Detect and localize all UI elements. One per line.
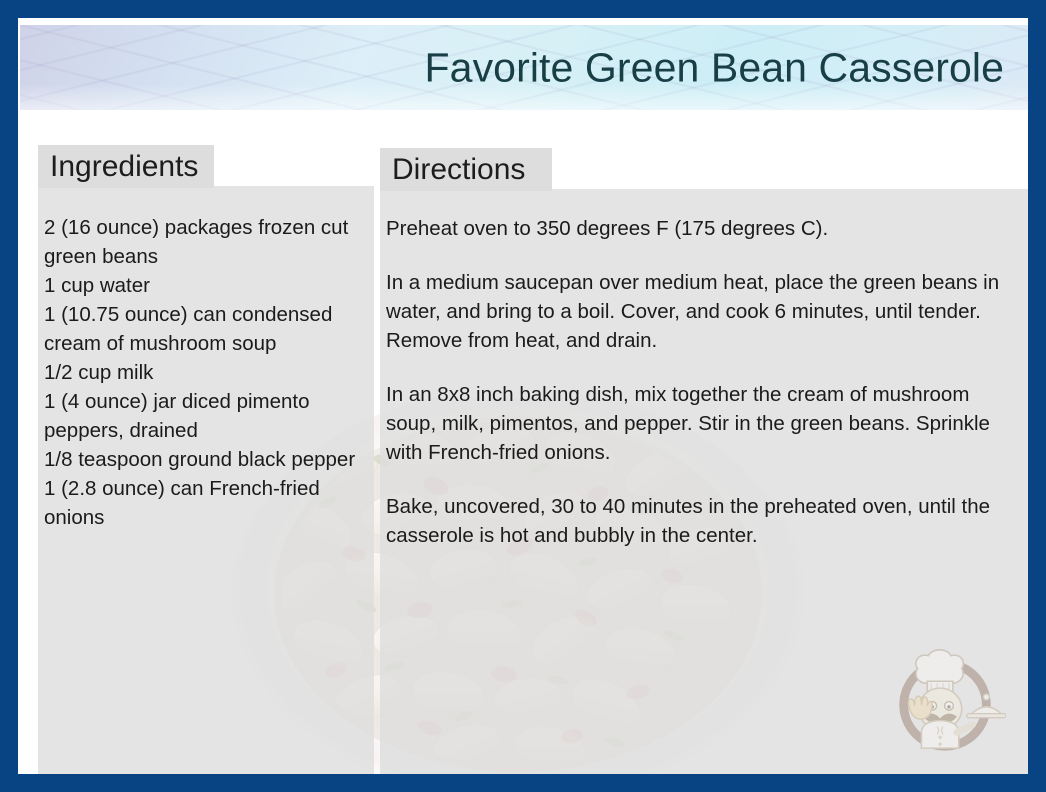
title-banner: Favorite Green Bean Casserole (20, 25, 1028, 110)
directions-column: Directions Preheat oven to 350 degrees F… (380, 148, 1036, 783)
direction-step: Bake, uncovered, 30 to 40 minutes in the… (386, 492, 1024, 550)
directions-tab: Directions (380, 148, 552, 191)
directions-panel: Preheat oven to 350 degrees F (175 degre… (380, 189, 1036, 783)
page-title: Favorite Green Bean Casserole (425, 44, 1004, 91)
direction-step: Preheat oven to 350 degrees F (175 degre… (386, 214, 1024, 243)
direction-step: In an 8x8 inch baking dish, mix together… (386, 380, 1024, 467)
recipe-slide: Favorite Green Bean Casserole (0, 0, 1046, 792)
ingredients-tab: Ingredients (38, 145, 214, 188)
ingredients-column: Ingredients 2 (16 ounce) packages frozen… (38, 145, 374, 783)
ingredients-list: 2 (16 ounce) packages frozen cut green b… (44, 213, 364, 532)
directions-heading: Directions (380, 153, 525, 187)
ingredients-heading: Ingredients (38, 150, 198, 184)
ingredients-panel: 2 (16 ounce) packages frozen cut green b… (38, 186, 374, 783)
direction-step: In a medium saucepan over medium heat, p… (386, 268, 1024, 355)
